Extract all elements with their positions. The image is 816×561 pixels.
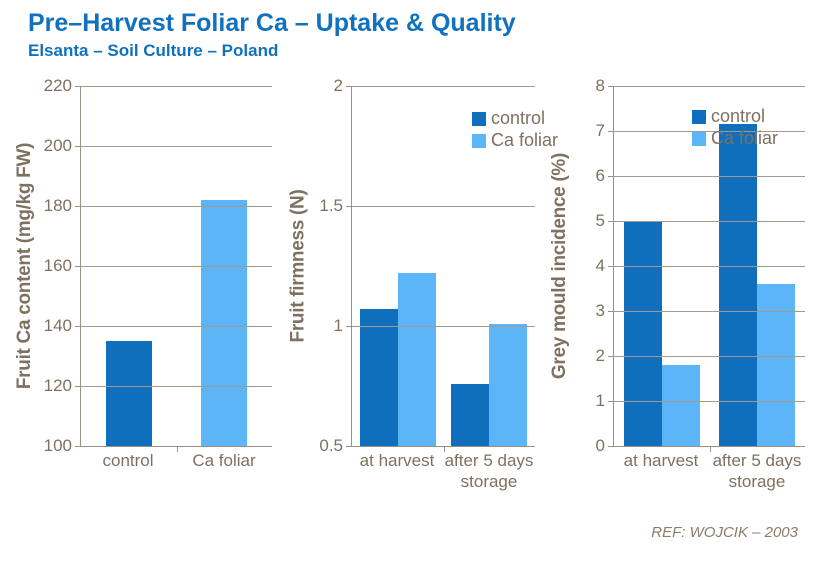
y-tick-label: 2 [596, 346, 605, 366]
x-category-labels-3: at harvestafter 5 days storage [613, 450, 805, 492]
grid-1 [80, 86, 272, 446]
gridline [81, 326, 272, 327]
bar-control[interactable] [106, 341, 152, 446]
y-tick-labels-2: 0.511.52 [313, 86, 347, 446]
x-category-label: after 5 days storage [709, 450, 805, 492]
axis-tick [608, 86, 614, 87]
y-axis-label-1: Fruit Ca content (mg/kg FW) [10, 86, 40, 446]
axis-tick [346, 206, 352, 207]
grid-2: control Ca foliar [351, 86, 535, 446]
gridline [352, 326, 535, 327]
bar-control[interactable] [451, 384, 489, 446]
axis-tick [75, 446, 81, 447]
axis-tick [608, 356, 614, 357]
gridline [352, 446, 535, 447]
y-tick-labels-1: 100120140160180200220 [42, 86, 76, 446]
gridline [614, 266, 805, 267]
x-category-label: after 5 days storage [443, 450, 535, 492]
axis-tick [608, 401, 614, 402]
gridline [81, 446, 272, 447]
y-tick-label: 6 [596, 166, 605, 186]
y-tick-label: 5 [596, 211, 605, 231]
y-tick-label: 8 [596, 76, 605, 96]
title-block: Pre–Harvest Foliar Ca – Uptake & Quality… [28, 8, 516, 62]
legend-3: control Ca foliar [692, 106, 778, 150]
y-tick-label: 200 [44, 136, 72, 156]
legend-swatch-control-icon [692, 110, 706, 124]
legend-label-control: control [711, 106, 765, 127]
axis-tick [346, 446, 352, 447]
legend-swatch-ca-foliar-icon [692, 132, 706, 146]
gridline [614, 86, 805, 87]
x-category-label: at harvest [613, 450, 709, 492]
y-tick-label: 120 [44, 376, 72, 396]
gridline [81, 146, 272, 147]
axis-tick [346, 86, 352, 87]
axis-tick [608, 446, 614, 447]
gridline [614, 401, 805, 402]
bar-ca-foliar[interactable] [398, 273, 436, 446]
legend-label-ca-foliar: Ca foliar [491, 130, 558, 151]
gridline [614, 176, 805, 177]
y-tick-label: 220 [44, 76, 72, 96]
axis-tick [75, 266, 81, 267]
plot-area-2: 0.511.52 control Ca foliar at harvestaft… [313, 86, 535, 446]
gridline [352, 206, 535, 207]
axis-tick [75, 146, 81, 147]
plot-area-3: 012345678 control Ca foliar at harvestaf… [575, 86, 805, 446]
axis-tick [346, 326, 352, 327]
x-category-label: Ca foliar [176, 450, 272, 471]
y-tick-labels-3: 012345678 [575, 86, 609, 446]
y-tick-label: 4 [596, 256, 605, 276]
axis-tick [75, 86, 81, 87]
bar-ca-foliar[interactable] [757, 284, 795, 446]
legend-item-ca-foliar: Ca foliar [472, 130, 558, 151]
chart-panel-ca-content: Fruit Ca content (mg/kg FW) 100120140160… [10, 86, 285, 506]
bar-control[interactable] [624, 221, 662, 446]
gridline [81, 206, 272, 207]
legend-item-ca-foliar: Ca foliar [692, 128, 778, 149]
y-tick-label: 1 [596, 391, 605, 411]
grid-3: control Ca foliar [613, 86, 805, 446]
bar-group [352, 86, 444, 446]
gridline [614, 446, 805, 447]
y-axis-label-2: Fruit firmness (N) [283, 86, 313, 446]
gridline [614, 221, 805, 222]
bar-ca-foliar[interactable] [662, 365, 700, 446]
reference-note: REF: WOJCIK – 2003 [651, 524, 798, 541]
axis-tick [75, 386, 81, 387]
x-category-label: at harvest [351, 450, 443, 492]
gridline [81, 86, 272, 87]
bar-control[interactable] [360, 309, 398, 446]
gridline [352, 86, 535, 87]
axis-tick [608, 131, 614, 132]
y-tick-label: 0 [596, 436, 605, 456]
y-tick-label: 7 [596, 121, 605, 141]
bar-ca-foliar[interactable] [201, 200, 247, 446]
y-tick-label: 2 [334, 76, 343, 96]
gridline [614, 356, 805, 357]
page-subtitle: Elsanta – Soil Culture – Poland [28, 40, 516, 62]
gridline [614, 311, 805, 312]
legend-swatch-ca-foliar-icon [472, 134, 486, 148]
y-tick-label: 160 [44, 256, 72, 276]
chart-panel-grey-mould: Grey mould incidence (%) 012345678 contr… [545, 86, 813, 506]
legend-label-ca-foliar: Ca foliar [711, 128, 778, 149]
page-title: Pre–Harvest Foliar Ca – Uptake & Quality [28, 8, 516, 38]
x-category-label: control [80, 450, 176, 471]
bar-ca-foliar[interactable] [489, 324, 527, 446]
legend-item-control: control [472, 108, 558, 129]
y-tick-label: 180 [44, 196, 72, 216]
axis-tick [75, 206, 81, 207]
axis-tick [608, 221, 614, 222]
plot-area-1: 100120140160180200220 controlCa foliar [42, 86, 272, 446]
chart-panel-firmness: Fruit firmness (N) 0.511.52 control Ca f… [283, 86, 545, 506]
y-tick-label: 1 [334, 316, 343, 336]
axis-tick [608, 176, 614, 177]
x-category-labels-2: at harvestafter 5 days storage [351, 450, 535, 492]
y-tick-label: 100 [44, 436, 72, 456]
y-tick-label: 0.5 [319, 436, 343, 456]
legend-2: control Ca foliar [472, 108, 558, 152]
y-tick-label: 1.5 [319, 196, 343, 216]
axis-tick [608, 311, 614, 312]
axis-tick [75, 326, 81, 327]
bar-control[interactable] [719, 124, 757, 446]
x-category-labels-1: controlCa foliar [80, 450, 272, 471]
gridline [81, 266, 272, 267]
legend-label-control: control [491, 108, 545, 129]
legend-item-control: control [692, 106, 778, 127]
legend-swatch-control-icon [472, 112, 486, 126]
axis-tick [608, 266, 614, 267]
gridline [81, 386, 272, 387]
y-tick-label: 140 [44, 316, 72, 336]
y-tick-label: 3 [596, 301, 605, 321]
